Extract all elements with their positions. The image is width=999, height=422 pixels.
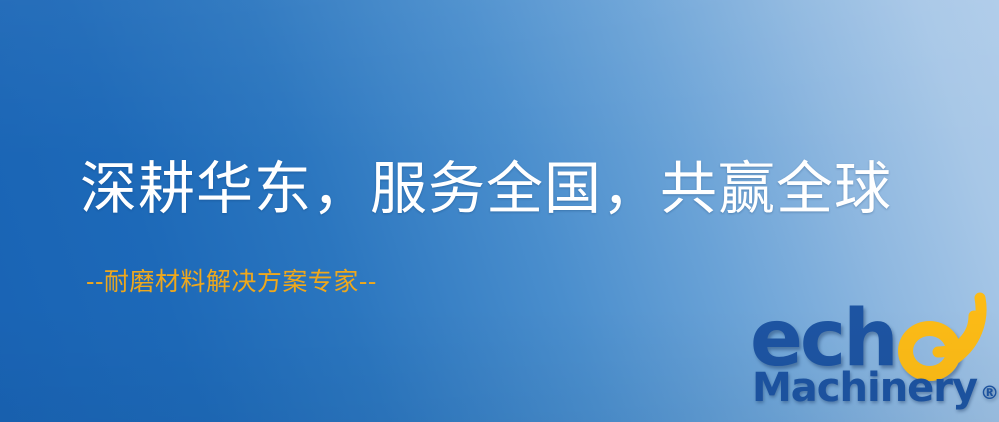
logo-text-machinery: Machinery®: [752, 366, 999, 415]
logo-machinery-label: Machinery: [752, 365, 977, 411]
logo-wordmark: ech: [748, 296, 996, 372]
promotional-banner: 深耕华东，服务全国，共赢全球 --耐磨材料解决方案专家-- ech Machin…: [0, 0, 999, 422]
echo-signal-waves-icon: [924, 292, 999, 368]
registered-trademark-symbol: ®: [980, 382, 999, 404]
banner-subtitle: --耐磨材料解决方案专家--: [86, 266, 377, 298]
banner-headline: 深耕华东，服务全国，共赢全球: [80, 154, 892, 224]
company-logo[interactable]: ech Machinery®: [744, 296, 996, 420]
